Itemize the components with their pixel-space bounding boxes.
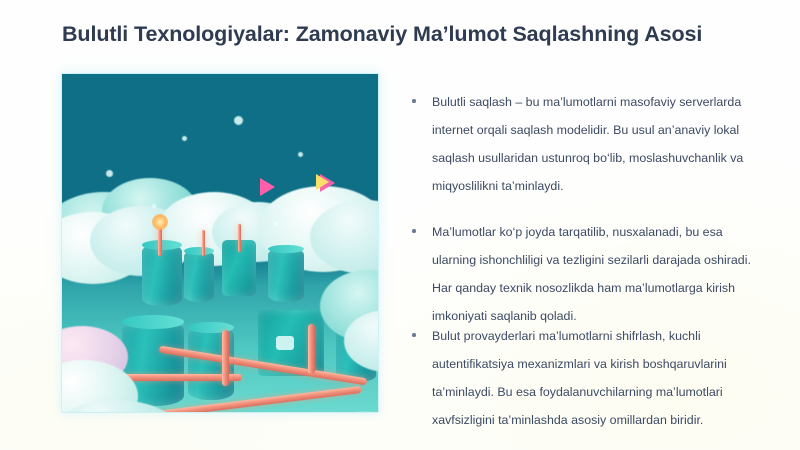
bullet-text: Ma’lumotlar ko‘p joyda tarqatilib, nusxa…: [432, 225, 751, 323]
data-pipe-vertical: [222, 330, 229, 386]
list-item: Ma’lumotlar ko‘p joyda tarqatilib, nusxa…: [404, 218, 766, 330]
bullet-marker: [412, 333, 416, 337]
bullet-text: Bulut provayderlari ma’lumotlarni shifrl…: [432, 329, 727, 427]
cloud-technology-illustration: [62, 74, 378, 412]
sparkle: [106, 170, 113, 177]
bullet-text: Bulutli saqlash – bu ma’lumotlarni masof…: [432, 95, 743, 193]
box-window: [276, 336, 294, 350]
glow-node: [152, 214, 168, 230]
sparkle: [274, 222, 278, 226]
presentation-slide: Bulutli Texnologiyalar: Zamonaviy Ma’lum…: [0, 0, 800, 450]
yellow-triangle-icon: [316, 174, 329, 190]
sparkle: [182, 136, 187, 141]
sparkle: [234, 116, 243, 125]
server-cylinder: [184, 250, 214, 302]
data-pipe-vertical: [308, 324, 315, 374]
list-item: Bulutli saqlash – bu ma’lumotlarni masof…: [404, 88, 766, 200]
bullet-list: Bulutli saqlash – bu ma’lumotlarni masof…: [404, 88, 766, 434]
server-cylinder: [268, 248, 304, 302]
sparkle: [152, 204, 156, 208]
slide-title: Bulutli Texnologiyalar: Zamonaviy Ma’lum…: [62, 22, 762, 47]
bullet-marker: [412, 99, 416, 103]
sparkle: [298, 152, 303, 157]
bullet-marker: [412, 229, 416, 233]
tower-antenna: [238, 224, 241, 252]
tower-antenna: [202, 230, 205, 256]
pink-triangle-icon: [260, 178, 275, 196]
server-cylinder: [142, 244, 182, 306]
illustration-canvas: [62, 74, 378, 412]
list-item: Bulut provayderlari ma’lumotlarni shifrl…: [404, 322, 766, 434]
